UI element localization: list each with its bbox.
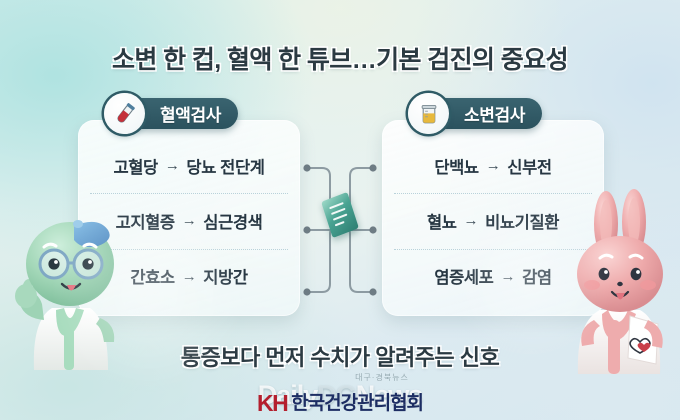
kh-association-logo: KH한국건강관리협회 bbox=[0, 388, 680, 417]
page-title: 소변 한 컵, 혈액 한 튜브…기본 검진의 중요성 bbox=[0, 40, 680, 76]
arrow-icon: → bbox=[464, 212, 479, 229]
infographic-canvas: 소변 한 컵, 혈액 한 튜브…기본 검진의 중요성 고혈당 → 당뇨 전단계 … bbox=[0, 0, 680, 420]
center-connector bbox=[300, 160, 380, 300]
blood-tube-badge bbox=[104, 93, 145, 134]
row-source: 고혈당 bbox=[113, 154, 157, 178]
row-target: 비뇨기질환 bbox=[485, 209, 559, 233]
arrow-icon: → bbox=[165, 157, 180, 174]
urine-cup-icon bbox=[416, 101, 442, 127]
row-source: 염증세포 bbox=[434, 264, 493, 288]
row-target: 감염 bbox=[522, 264, 552, 288]
kh-name: 한국건강관리협회 bbox=[291, 393, 423, 414]
list-item: 단백뇨 → 신부전 bbox=[392, 138, 594, 193]
row-source: 단백뇨 bbox=[434, 154, 478, 178]
urine-cup-badge bbox=[408, 93, 449, 134]
kh-mark: KH bbox=[257, 390, 287, 416]
card-header-label: 소변검사 bbox=[464, 101, 525, 126]
blood-tube-icon bbox=[112, 101, 138, 127]
arrow-icon: → bbox=[182, 212, 197, 229]
row-target: 당뇨 전단계 bbox=[186, 154, 264, 178]
arrow-icon: → bbox=[182, 268, 197, 285]
arrow-icon: → bbox=[500, 268, 515, 285]
card-header-label: 혈액검사 bbox=[160, 101, 221, 126]
row-source: 간효소 bbox=[130, 264, 174, 288]
list-item: 고혈당 → 당뇨 전단계 bbox=[88, 138, 290, 193]
row-target: 신부전 bbox=[507, 154, 551, 178]
arrow-icon: → bbox=[486, 157, 501, 174]
row-target: 지방간 bbox=[203, 264, 247, 288]
row-source: 혈뇨 bbox=[427, 209, 457, 233]
row-target: 심근경색 bbox=[203, 209, 262, 233]
footer-tagline: 통증보다 먼저 수치가 알려주는 신호 bbox=[0, 340, 680, 372]
